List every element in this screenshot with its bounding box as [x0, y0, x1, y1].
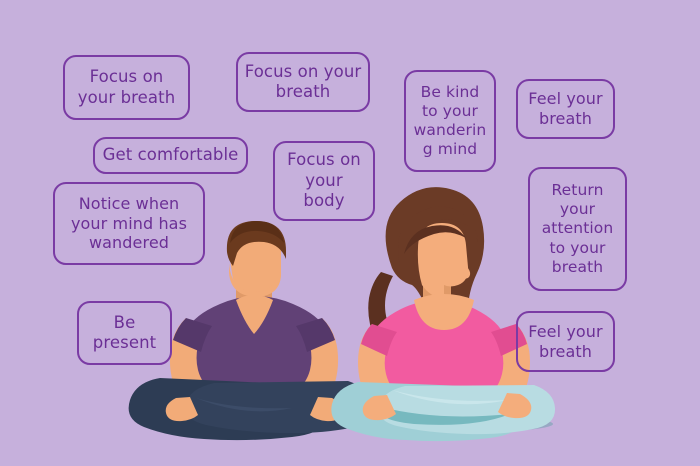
note-focus-on-your-body[interactable]: Focus on your body: [273, 141, 375, 221]
meditation-illustration-scene: Focus on your breath Focus on your breat…: [0, 0, 700, 466]
note-get-comfortable[interactable]: Get comfortable: [93, 137, 248, 174]
note-be-kind-to-your-wandering-mind[interactable]: Be kind to your wanderin g mind: [404, 70, 496, 172]
note-return-your-attention-to-your-breath[interactable]: Return your attention to your breath: [528, 167, 627, 291]
note-focus-on-your-breath-1[interactable]: Focus on your breath: [63, 55, 190, 120]
note-be-present[interactable]: Be present: [77, 301, 172, 365]
note-notice-when-your-mind-has-wandered[interactable]: Notice when your mind has wandered: [53, 182, 205, 265]
note-focus-on-your-breath-2[interactable]: Focus on your breath: [236, 52, 370, 112]
note-feel-your-breath-1[interactable]: Feel your breath: [516, 79, 615, 139]
note-feel-your-breath-2[interactable]: Feel your breath: [516, 311, 615, 372]
